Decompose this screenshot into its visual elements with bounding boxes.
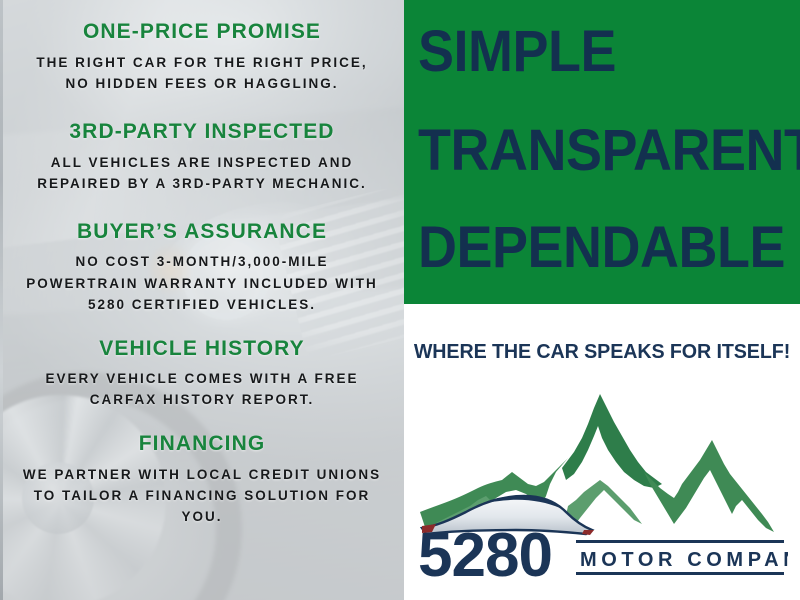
promo-poster: ONE-PRICE PROMISE THE RIGHT CAR FOR THE … xyxy=(0,0,800,600)
logo-svg: 5280 MOTOR COMPANY xyxy=(416,380,788,580)
headline-line-simple: SIMPLE xyxy=(418,24,773,81)
headline-panel: SIMPLE TRANSPARENT DEPENDABLE xyxy=(404,0,800,304)
feature-list: ONE-PRICE PROMISE THE RIGHT CAR FOR THE … xyxy=(0,0,404,600)
features-panel: ONE-PRICE PROMISE THE RIGHT CAR FOR THE … xyxy=(0,0,404,600)
feature-title: ONE-PRICE PROMISE xyxy=(12,20,392,45)
logo-wordmark: MOTOR COMPANY xyxy=(580,549,788,571)
logo-wordmark-block: MOTOR COMPANY xyxy=(576,540,788,575)
feature-body: NO COST 3-MONTH/3,000-MILE POWERTRAIN WA… xyxy=(12,251,392,314)
feature-item: VEHICLE HISTORY EVERY VEHICLE COMES WITH… xyxy=(12,337,392,411)
branding-panel: WHERE THE CAR SPEAKS FOR ITSELF! xyxy=(404,304,800,600)
feature-title: FINANCING xyxy=(12,432,392,457)
feature-item: BUYER’S ASSURANCE NO COST 3-MONTH/3,000-… xyxy=(12,220,392,315)
feature-item: FINANCING WE PARTNER WITH LOCAL CREDIT U… xyxy=(12,432,392,527)
feature-title: BUYER’S ASSURANCE xyxy=(12,220,392,245)
headline-line-transparent: TRANSPARENT xyxy=(418,123,773,180)
feature-item: ONE-PRICE PROMISE THE RIGHT CAR FOR THE … xyxy=(12,20,392,94)
feature-body: ALL VEHICLES ARE INSPECTED AND REPAIRED … xyxy=(12,152,392,194)
company-logo: 5280 MOTOR COMPANY xyxy=(416,380,788,580)
feature-title: VEHICLE HISTORY xyxy=(12,337,392,362)
tagline: WHERE THE CAR SPEAKS FOR ITSELF! xyxy=(412,340,792,364)
feature-body: THE RIGHT CAR FOR THE RIGHT PRICE, NO HI… xyxy=(12,52,392,94)
feature-title: 3RD-PARTY INSPECTED xyxy=(12,120,392,145)
feature-body: EVERY VEHICLE COMES WITH A FREE CARFAX H… xyxy=(12,368,392,410)
headline-stack: SIMPLE TRANSPARENT DEPENDABLE xyxy=(404,0,800,304)
headline-line-dependable: DEPENDABLE xyxy=(418,220,773,277)
feature-body: WE PARTNER WITH LOCAL CREDIT UNIONS TO T… xyxy=(12,464,392,527)
feature-item: 3RD-PARTY INSPECTED ALL VEHICLES ARE INS… xyxy=(12,120,392,194)
logo-number: 5280 xyxy=(418,521,552,580)
